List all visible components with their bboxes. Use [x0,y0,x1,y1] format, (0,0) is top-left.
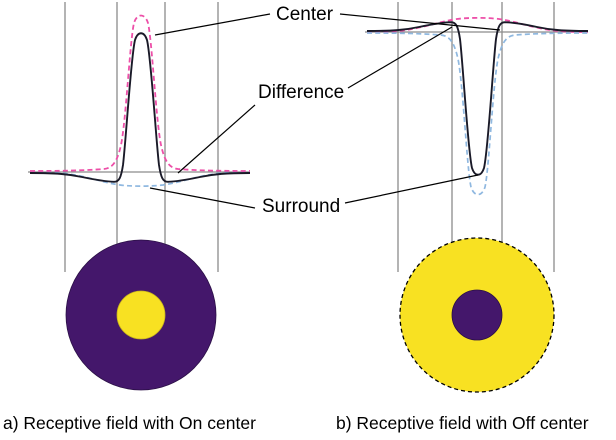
caption-panel-a: a) Receptive field with On center [3,413,256,433]
leader-surround-left [150,188,255,208]
leader-center-left [155,14,270,35]
annotation-label-surround: Surround [262,196,340,217]
caption-panel-b: b) Receptive field with Off center [336,413,589,433]
leader-difference-right [348,27,452,88]
difference-curve-a [30,33,250,182]
leader-difference-left [178,105,255,173]
center-curve-a [30,16,250,172]
annotation-label-center: Center [276,4,334,25]
receptive-field-figure: Center Difference Surround a) Receptive … [0,0,616,440]
annotation-label-difference: Difference [258,82,344,103]
receptive-field-disc-b [400,238,554,392]
annotation-leader-lines [150,14,500,208]
figure-canvas: Center Difference Surround a) Receptive … [0,0,616,440]
leader-surround-right [345,175,478,203]
center-disc-a [117,291,165,339]
difference-curve-b [367,22,588,175]
panel-a-curves [28,16,250,187]
receptive-field-disc-a [66,240,216,390]
center-disc-b [452,290,502,340]
